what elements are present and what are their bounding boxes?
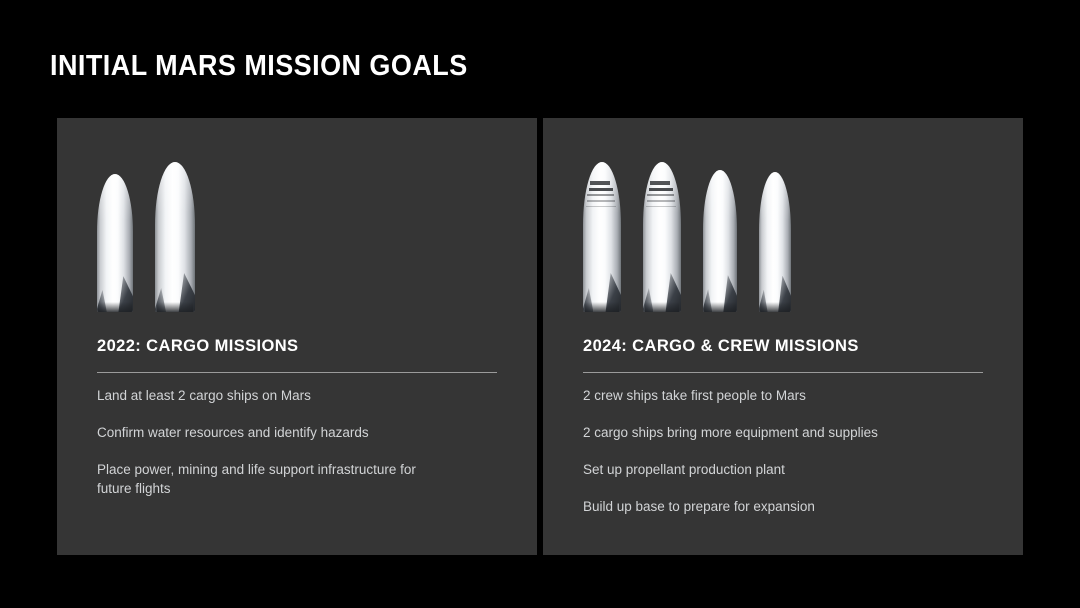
ship-illustration-group-2022 [97,162,195,312]
crew-ship-icon [583,162,621,312]
goal-list-2022: Land at least 2 cargo ships on Mars Conf… [97,386,509,498]
panel-heading: 2022: CARGO MISSIONS [97,337,298,356]
heading-divider [583,372,983,373]
list-item: Set up propellant production plant [583,460,995,479]
cargo-ship-icon [155,162,195,312]
list-item: Build up base to prepare for expansion [583,497,995,516]
heading-divider [97,372,497,373]
list-item: 2 crew ships take first people to Mars [583,386,995,405]
panel-container: 2022: CARGO MISSIONS Land at least 2 car… [57,118,1023,555]
list-item: Place power, mining and life support inf… [97,460,442,498]
list-item: Confirm water resources and identify haz… [97,423,509,442]
panel-cargo-crew-missions-2024: 2024: CARGO & CREW MISSIONS 2 crew ships… [543,118,1023,555]
cargo-ship-icon [97,174,133,312]
goal-list-2024: 2 crew ships take first people to Mars 2… [583,386,995,516]
slide: INITIAL MARS MISSION GOALS 2022: CARGO M… [0,0,1080,608]
page-title: INITIAL MARS MISSION GOALS [50,48,468,84]
cargo-ship-icon [759,172,791,312]
cargo-ship-icon [703,170,737,312]
list-item: Land at least 2 cargo ships on Mars [97,386,509,405]
panel-heading: 2024: CARGO & CREW MISSIONS [583,337,859,356]
list-item: 2 cargo ships bring more equipment and s… [583,423,995,442]
panel-cargo-missions-2022: 2022: CARGO MISSIONS Land at least 2 car… [57,118,537,555]
ship-illustration-group-2024 [583,162,791,312]
crew-ship-icon [643,162,681,312]
